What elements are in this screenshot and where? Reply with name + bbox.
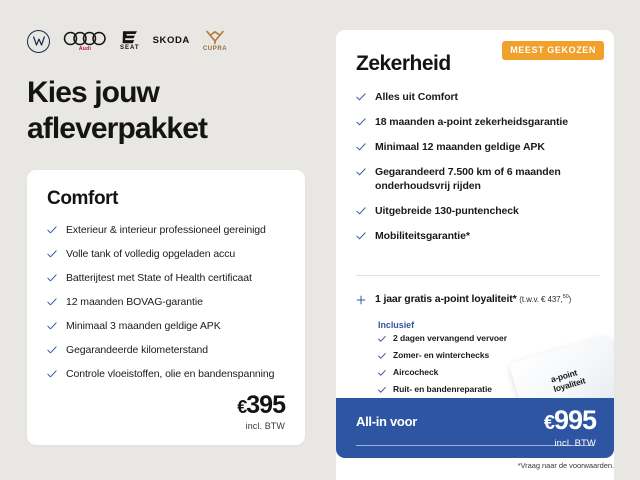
- audi-wordmark: Audi: [79, 46, 91, 52]
- list-item: Ruit- en bandenreparatie: [378, 384, 507, 395]
- check-icon: [47, 273, 57, 283]
- list-item: Uitgebreide 130-puntencheck: [356, 204, 600, 218]
- check-icon: [356, 117, 366, 127]
- list-item-label: Uitgebreide 130-puntencheck: [375, 204, 519, 218]
- check-icon: [378, 369, 386, 377]
- comfort-price: €395: [237, 392, 285, 420]
- loyalty-highlight-row: 1 jaar gratis a-point loyaliteit* (t.w.v…: [356, 290, 606, 307]
- list-item-label: Controle vloeistoffen, olie en bandenspa…: [66, 367, 274, 381]
- list-item: Mobiliteitsgarantie*: [356, 229, 600, 243]
- comfort-package-card: Comfort Exterieur & interieur profession…: [27, 170, 305, 445]
- list-item: Batterijtest met State of Health certifi…: [47, 271, 285, 285]
- inclusief-list: 2 dagen vervangend vervoer Zomer- en win…: [378, 333, 507, 401]
- check-icon: [47, 345, 57, 355]
- promo-page: Audi SEAT SKODA CUPRA: [0, 0, 640, 480]
- check-icon: [47, 225, 57, 235]
- list-item-label: Exterieur & interieur professioneel gere…: [66, 223, 266, 237]
- list-item-label: Batterijtest met State of Health certifi…: [66, 271, 252, 285]
- check-icon: [47, 369, 57, 379]
- check-icon: [356, 142, 366, 152]
- plus-icon: [356, 292, 366, 302]
- zekerheid-price-note: incl. BTW: [544, 438, 596, 449]
- comfort-title: Comfort: [47, 188, 285, 210]
- list-item-label: Ruit- en bandenreparatie: [393, 384, 492, 395]
- all-in-label: All-in voor: [356, 414, 417, 429]
- loyalty-worth: (t.w.v. € 437,50): [519, 295, 571, 304]
- brand-logo-row: Audi SEAT SKODA CUPRA: [27, 28, 227, 54]
- comfort-price-block: €395 incl. BTW: [237, 392, 285, 431]
- list-item: Minimaal 12 maanden geldige APK: [356, 140, 600, 154]
- list-item: Aircocheck: [378, 367, 507, 378]
- loyalty-worth-suffix: ): [569, 295, 572, 304]
- price-amount: 995: [554, 405, 596, 435]
- check-icon: [378, 352, 386, 360]
- list-item-label: 12 maanden BOVAG-garantie: [66, 295, 203, 309]
- list-item: 18 maanden a-point zekerheidsgarantie: [356, 115, 600, 129]
- check-icon: [356, 167, 366, 177]
- left-column: Audi SEAT SKODA CUPRA: [0, 0, 330, 480]
- cupra-wordmark: CUPRA: [203, 46, 227, 53]
- check-icon: [47, 249, 57, 259]
- list-item-label: Alles uit Comfort: [375, 90, 458, 104]
- seat-logo-icon: SEAT: [120, 30, 140, 52]
- comfort-price-note: incl. BTW: [237, 421, 285, 431]
- list-item-label: Gegarandeerd 7.500 km of 6 maanden onder…: [375, 165, 600, 193]
- list-item-label: Mobiliteitsgarantie*: [375, 229, 470, 243]
- check-icon: [378, 335, 386, 343]
- check-icon: [356, 92, 366, 102]
- skoda-logo-icon: SKODA: [153, 36, 190, 46]
- currency-symbol: €: [237, 397, 246, 417]
- zekerheid-price-block: €995 incl. BTW: [544, 405, 596, 449]
- loyalty-title: 1 jaar gratis a-point loyaliteit*: [375, 293, 517, 305]
- list-item-label: Zomer- en winterchecks: [393, 350, 489, 361]
- list-item: Minimaal 3 maanden geldige APK: [47, 319, 285, 333]
- list-item: Zomer- en winterchecks: [378, 350, 507, 361]
- zekerheid-price: €995: [544, 405, 596, 438]
- check-icon: [378, 386, 386, 394]
- list-item: Gegarandeerd 7.500 km of 6 maanden onder…: [356, 165, 600, 193]
- list-item: 12 maanden BOVAG-garantie: [47, 295, 285, 309]
- list-item: Volle tank of volledig opgeladen accu: [47, 247, 285, 261]
- inclusief-heading: Inclusief: [378, 320, 414, 330]
- list-item-label: 2 dagen vervangend vervoer: [393, 333, 507, 344]
- volkswagen-logo-icon: [27, 30, 50, 53]
- list-item: Exterieur & interieur professioneel gere…: [47, 223, 285, 237]
- zekerheid-feature-list: Alles uit Comfort 18 maanden a-point zek…: [356, 90, 600, 254]
- check-icon: [47, 321, 57, 331]
- list-item-label: 18 maanden a-point zekerheidsgarantie: [375, 115, 568, 129]
- zekerheid-title: Zekerheid: [356, 52, 451, 76]
- skoda-wordmark: SKODA: [153, 36, 190, 46]
- list-item: Controle vloeistoffen, olie en bandenspa…: [47, 367, 285, 381]
- audi-logo-icon: Audi: [63, 31, 107, 52]
- check-icon: [47, 297, 57, 307]
- list-item: Gegarandeerde kilometerstand: [47, 343, 285, 357]
- cupra-logo-icon: CUPRA: [203, 30, 227, 53]
- seat-wordmark: SEAT: [120, 45, 140, 52]
- section-divider: [356, 275, 600, 276]
- footnote: *Vraag naar de voorwaarden.: [518, 461, 614, 470]
- list-item-label: Aircocheck: [393, 367, 438, 378]
- list-item: 2 dagen vervangend vervoer: [378, 333, 507, 344]
- comfort-feature-list: Exterieur & interieur professioneel gere…: [47, 223, 285, 381]
- currency-symbol: €: [544, 412, 554, 434]
- list-item-label: Gegarandeerde kilometerstand: [66, 343, 208, 357]
- price-amount: 395: [246, 391, 285, 419]
- check-icon: [356, 231, 366, 241]
- status-badge: MEEST GEKOZEN: [502, 41, 604, 60]
- list-item-label: Volle tank of volledig opgeladen accu: [66, 247, 235, 261]
- list-item: Alles uit Comfort: [356, 90, 600, 104]
- loyalty-worth-prefix: (t.w.v. € 437,: [519, 295, 562, 304]
- loyalty-label: 1 jaar gratis a-point loyaliteit* (t.w.v…: [375, 290, 571, 307]
- footer-rule: [356, 445, 594, 446]
- list-item-label: Minimaal 3 maanden geldige APK: [66, 319, 221, 333]
- check-icon: [356, 206, 366, 216]
- page-title: Kies jouw afleverpakket: [27, 75, 317, 147]
- list-item-label: Minimaal 12 maanden geldige APK: [375, 140, 545, 154]
- zekerheid-price-footer: All-in voor €995 incl. BTW: [336, 398, 614, 458]
